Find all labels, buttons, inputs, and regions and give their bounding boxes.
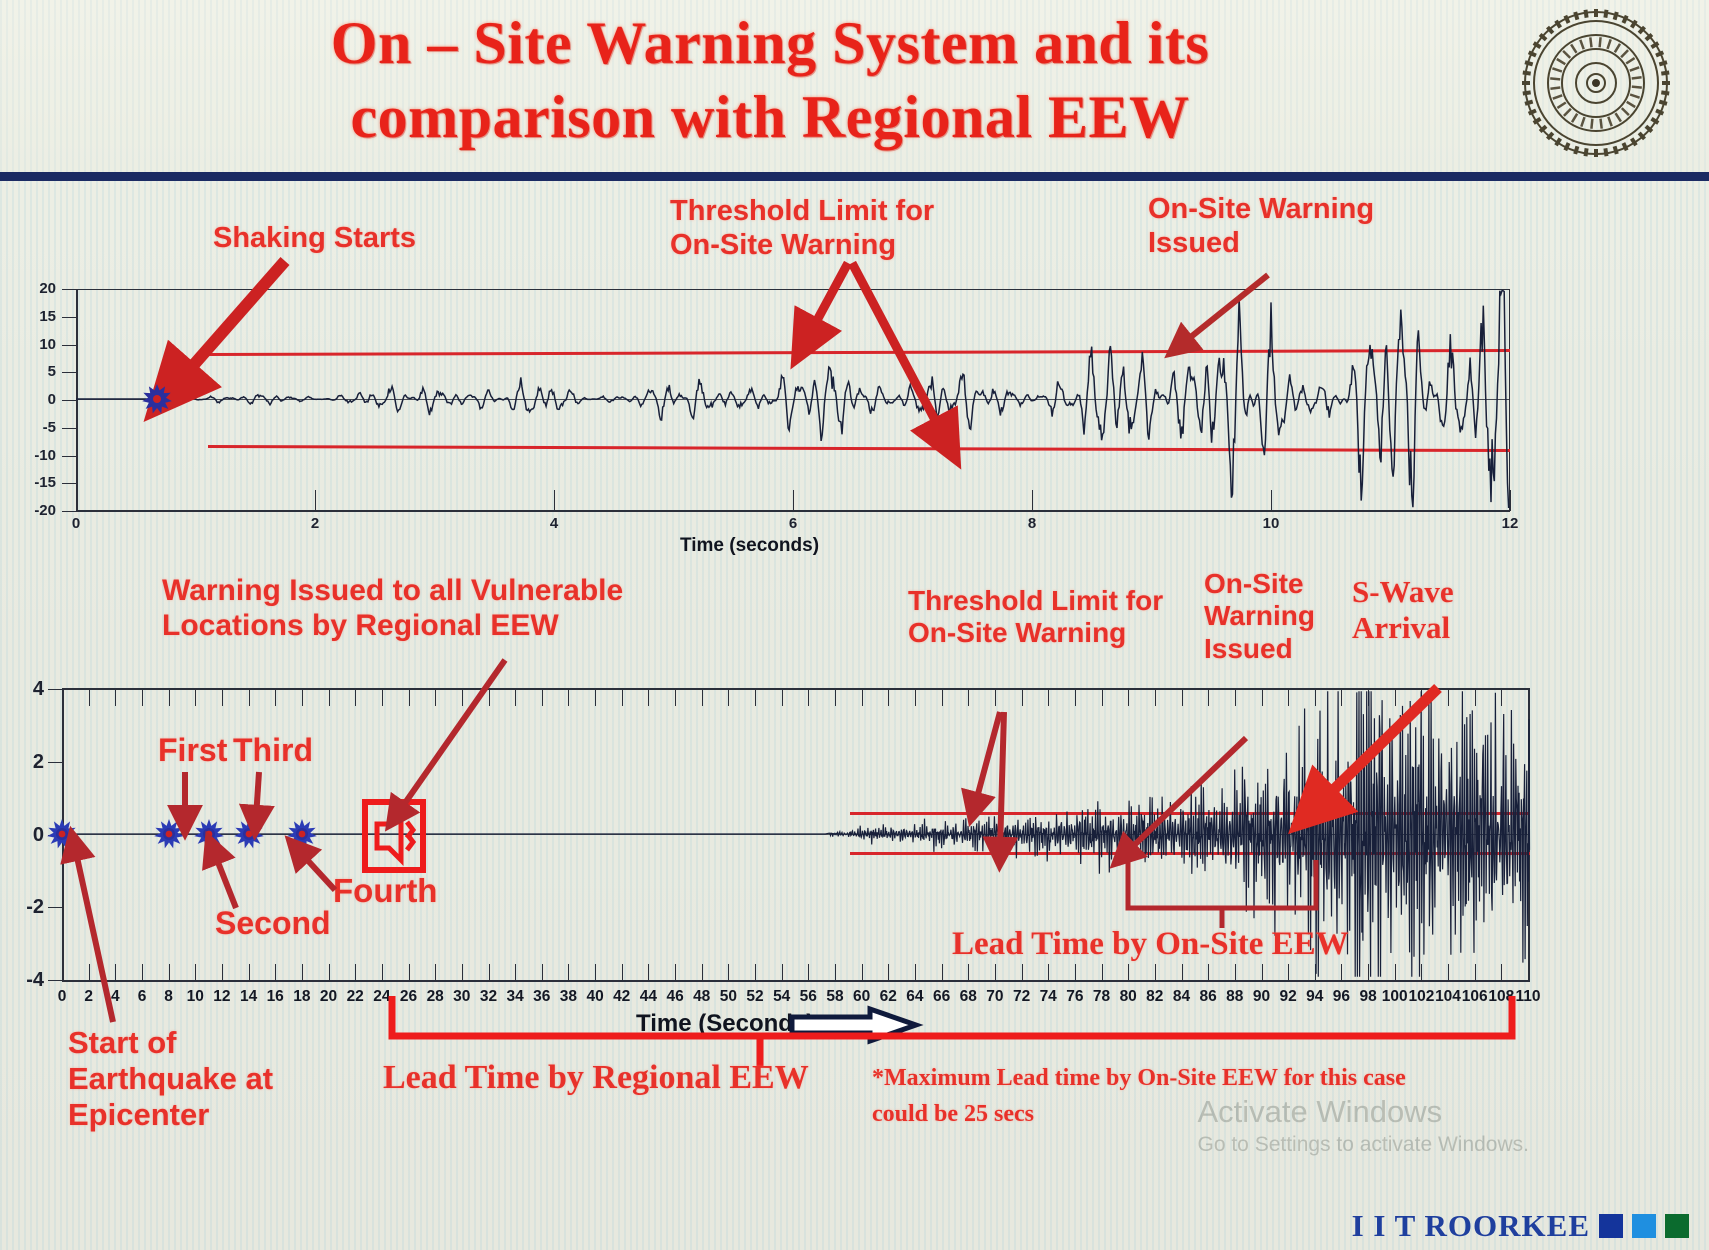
annotation-max-lead-time-note-line1: *Maximum Lead time by On-Site EEW for th…: [872, 1060, 1406, 1096]
top-accelerogram-chart: 20151050-5-10-15-20 024681012 Time (seco…: [0, 185, 1709, 555]
arrow-threshold-lower: [852, 263, 944, 437]
footer-square-2: [1632, 1214, 1656, 1238]
iit-roorkee-seal-icon: [1521, 8, 1671, 158]
footer-square-3: [1665, 1214, 1689, 1238]
top-chart-annotation-arrows: [0, 185, 1709, 555]
activate-windows-title: Activate Windows: [1198, 1093, 1530, 1132]
annotation-lead-time-regional: Lead Time by Regional EEW: [383, 1058, 809, 1097]
iit-roorkee-wordmark: I I T ROORKEE: [1352, 1208, 1590, 1244]
activate-windows-subtitle: Go to Settings to activate Windows.: [1198, 1132, 1530, 1158]
page-title-line2: comparison with Regional EEW: [150, 80, 1390, 154]
arrow-onsite-warning-issued: [1182, 275, 1268, 344]
footer-square-1: [1599, 1214, 1623, 1238]
shaking-start-marker-icon: [142, 384, 172, 414]
arrow-threshold-upper: [808, 263, 848, 337]
footer-branding: I I T ROORKEE: [1352, 1208, 1689, 1244]
page-title-line1: On – Site Warning System and its: [150, 6, 1390, 80]
title-band: On – Site Warning System and its compari…: [0, 0, 1709, 181]
activate-windows-watermark: Activate Windows Go to Settings to activ…: [1198, 1093, 1530, 1158]
arrow-shaking-starts: [176, 261, 285, 385]
page-title: On – Site Warning System and its compari…: [150, 6, 1390, 155]
